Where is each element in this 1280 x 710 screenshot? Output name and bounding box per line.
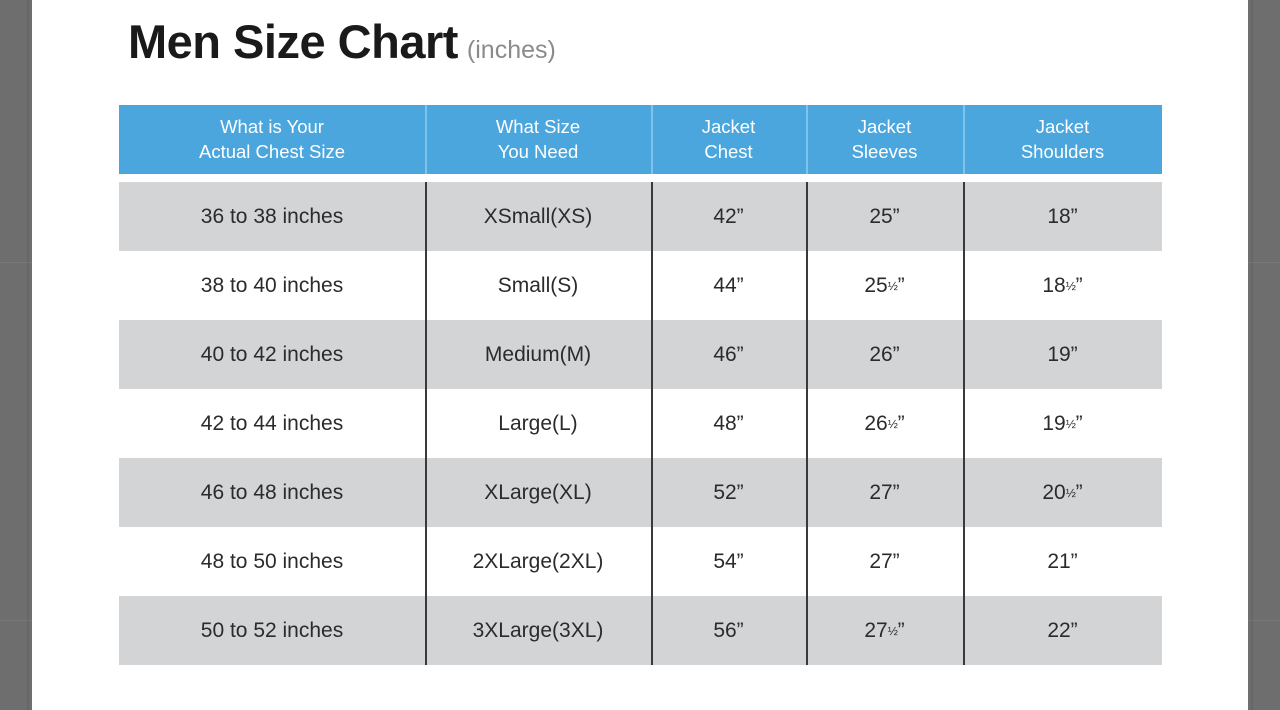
size-chart-table: What is Your Actual Chest Size What Size… (119, 105, 1162, 665)
column-header-line1: What Size (496, 115, 580, 140)
cell-jacket-shoulders: 21” (963, 527, 1162, 596)
cell-size-you-need: 3XLarge(3XL) (425, 596, 651, 665)
column-header-line1: What is Your (220, 115, 324, 140)
cell-jacket-sleeves: 27” (806, 527, 963, 596)
cell-jacket-sleeves: 27½” (806, 596, 963, 665)
cell-size-you-need: XLarge(XL) (425, 458, 651, 527)
column-header-line1: Jacket (702, 115, 755, 140)
cell-jacket-chest: 56” (651, 596, 806, 665)
right-bar-seam (1251, 0, 1253, 710)
column-header-jacket-sleeves: Jacket Sleeves (806, 105, 963, 174)
screenshot-stage: Men Size Chart (inches) What is Your Act… (0, 0, 1280, 710)
column-header-line2: Chest (704, 140, 752, 165)
cell-jacket-chest: 44” (651, 251, 806, 320)
cell-actual-chest-size: 36 to 38 inches (119, 182, 425, 251)
column-header-line2: Actual Chest Size (199, 140, 345, 165)
left-bar-band (0, 262, 32, 263)
right-bar-band (1248, 262, 1280, 263)
cell-jacket-shoulders: 19½” (963, 389, 1162, 458)
table-row: 46 to 48 inches XLarge(XL) 52” 27” 20½” (119, 458, 1162, 527)
cell-jacket-shoulders: 19” (963, 320, 1162, 389)
column-header-line2: Shoulders (1021, 140, 1104, 165)
column-header-line2: You Need (498, 140, 579, 165)
cell-size-you-need: XSmall(XS) (425, 182, 651, 251)
right-bar-band (1248, 620, 1280, 621)
cell-jacket-shoulders: 20½” (963, 458, 1162, 527)
table-header-row: What is Your Actual Chest Size What Size… (119, 105, 1162, 174)
column-header-line1: Jacket (1036, 115, 1089, 140)
left-bar-band (0, 620, 32, 621)
cell-actual-chest-size: 46 to 48 inches (119, 458, 425, 527)
cell-jacket-sleeves: 26½” (806, 389, 963, 458)
table-row: 36 to 38 inches XSmall(XS) 42” 25” 18” (119, 182, 1162, 251)
column-header-actual-chest-size: What is Your Actual Chest Size (119, 105, 425, 174)
page-title-main: Men Size Chart (128, 18, 458, 65)
cell-jacket-shoulders: 18½” (963, 251, 1162, 320)
cell-jacket-chest: 52” (651, 458, 806, 527)
cell-jacket-sleeves: 26” (806, 320, 963, 389)
cell-jacket-chest: 48” (651, 389, 806, 458)
cell-actual-chest-size: 40 to 42 inches (119, 320, 425, 389)
cell-jacket-shoulders: 22” (963, 596, 1162, 665)
table-body: 36 to 38 inches XSmall(XS) 42” 25” 18” 3… (119, 182, 1162, 665)
column-header-line1: Jacket (858, 115, 911, 140)
cell-jacket-chest: 42” (651, 182, 806, 251)
column-header-jacket-chest: Jacket Chest (651, 105, 806, 174)
cell-actual-chest-size: 38 to 40 inches (119, 251, 425, 320)
left-bar-seam (27, 0, 29, 710)
cell-actual-chest-size: 42 to 44 inches (119, 389, 425, 458)
right-letterbox-bar (1248, 0, 1280, 710)
cell-jacket-sleeves: 25½” (806, 251, 963, 320)
column-header-jacket-shoulders: Jacket Shoulders (963, 105, 1162, 174)
cell-size-you-need: 2XLarge(2XL) (425, 527, 651, 596)
table-row: 48 to 50 inches 2XLarge(2XL) 54” 27” 21” (119, 527, 1162, 596)
cell-size-you-need: Small(S) (425, 251, 651, 320)
cell-jacket-chest: 54” (651, 527, 806, 596)
table-row: 42 to 44 inches Large(L) 48” 26½” 19½” (119, 389, 1162, 458)
table-row: 38 to 40 inches Small(S) 44” 25½” 18½” (119, 251, 1162, 320)
content-sheet: Men Size Chart (inches) What is Your Act… (32, 0, 1248, 710)
column-header-size-you-need: What Size You Need (425, 105, 651, 174)
cell-jacket-sleeves: 27” (806, 458, 963, 527)
cell-size-you-need: Large(L) (425, 389, 651, 458)
cell-actual-chest-size: 48 to 50 inches (119, 527, 425, 596)
page-title-units: (inches) (467, 38, 556, 63)
column-header-line2: Sleeves (852, 140, 918, 165)
table-row: 50 to 52 inches 3XLarge(3XL) 56” 27½” 22… (119, 596, 1162, 665)
cell-jacket-chest: 46” (651, 320, 806, 389)
left-letterbox-bar (0, 0, 32, 710)
table-row: 40 to 42 inches Medium(M) 46” 26” 19” (119, 320, 1162, 389)
cell-jacket-sleeves: 25” (806, 182, 963, 251)
cell-jacket-shoulders: 18” (963, 182, 1162, 251)
page-title: Men Size Chart (inches) (128, 18, 556, 65)
cell-size-you-need: Medium(M) (425, 320, 651, 389)
cell-actual-chest-size: 50 to 52 inches (119, 596, 425, 665)
